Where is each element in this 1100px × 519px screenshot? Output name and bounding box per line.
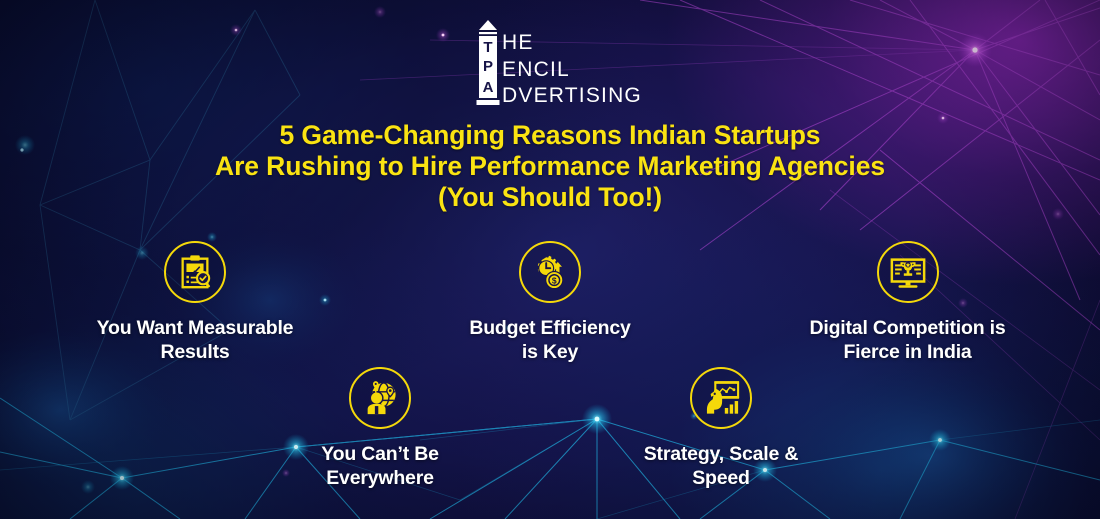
svg-text:A: A bbox=[483, 79, 494, 96]
feature-label: Digital Competition is Fierce in India bbox=[775, 316, 1040, 364]
feature-label: Budget Efficiency is Key bbox=[425, 316, 675, 364]
feature-label-line-1: Budget Efficiency bbox=[469, 317, 630, 339]
feature-icon-circle bbox=[164, 241, 226, 303]
feature-label: Strategy, Scale & Speed bbox=[608, 442, 834, 490]
svg-text:HE: HE bbox=[502, 31, 534, 54]
feature-budget-efficiency[interactable]: $ Budget Efficiency is Key bbox=[425, 241, 675, 364]
feature-label: You Want Measurable Results bbox=[50, 316, 340, 364]
feature-label-line-2: Speed bbox=[692, 467, 750, 489]
feature-label-line-1: Digital Competition is bbox=[809, 317, 1005, 339]
feature-label-line-2: Results bbox=[160, 341, 229, 363]
headline-line-1: 5 Game-Changing Reasons Indian Startups bbox=[0, 120, 1100, 151]
svg-text:T: T bbox=[483, 39, 492, 56]
feature-measurable-results[interactable]: You Want Measurable Results bbox=[50, 241, 340, 364]
brand-logo[interactable]: T P A HE ENCIL DVERTISING bbox=[466, 14, 646, 110]
person-globe-pins-icon bbox=[361, 379, 399, 417]
monitor-trophy-icon bbox=[889, 253, 927, 291]
pencil-logo-icon: T P A HE ENCIL DVERTISING bbox=[466, 14, 646, 110]
gear-clock-coin-arrow-icon: $ bbox=[531, 253, 569, 291]
feature-label-line-1: You Want Measurable bbox=[97, 317, 294, 339]
svg-text:$: $ bbox=[552, 276, 557, 286]
chess-knight-chart-icon bbox=[702, 379, 740, 417]
feature-icon-circle bbox=[690, 367, 752, 429]
feature-icon-circle: $ bbox=[519, 241, 581, 303]
feature-label-line-2: is Key bbox=[522, 341, 578, 363]
svg-text:ENCIL: ENCIL bbox=[502, 58, 570, 81]
feature-label: You Can’t Be Everywhere bbox=[265, 442, 495, 490]
feature-label-line-1: You Can’t Be bbox=[321, 443, 439, 465]
headline-line-2: Are Rushing to Hire Performance Marketin… bbox=[0, 151, 1100, 182]
feature-icon-circle bbox=[877, 241, 939, 303]
promotional-banner: T P A HE ENCIL DVERTISING 5 Game-Changin… bbox=[0, 0, 1100, 519]
clipboard-gauge-magnifier-icon bbox=[176, 253, 214, 291]
feature-icon-circle bbox=[349, 367, 411, 429]
headline-line-3: (You Should Too!) bbox=[0, 182, 1100, 213]
feature-label-line-1: Strategy, Scale & bbox=[644, 443, 798, 465]
svg-text:DVERTISING: DVERTISING bbox=[502, 84, 642, 107]
feature-strategy-scale-speed[interactable]: Strategy, Scale & Speed bbox=[608, 367, 834, 490]
feature-label-line-2: Fierce in India bbox=[843, 341, 971, 363]
feature-cant-be-everywhere[interactable]: You Can’t Be Everywhere bbox=[265, 367, 495, 490]
feature-label-line-2: Everywhere bbox=[326, 467, 434, 489]
headline: 5 Game-Changing Reasons Indian Startups … bbox=[0, 120, 1100, 213]
svg-text:P: P bbox=[483, 58, 493, 75]
feature-digital-competition[interactable]: Digital Competition is Fierce in India bbox=[775, 241, 1040, 364]
